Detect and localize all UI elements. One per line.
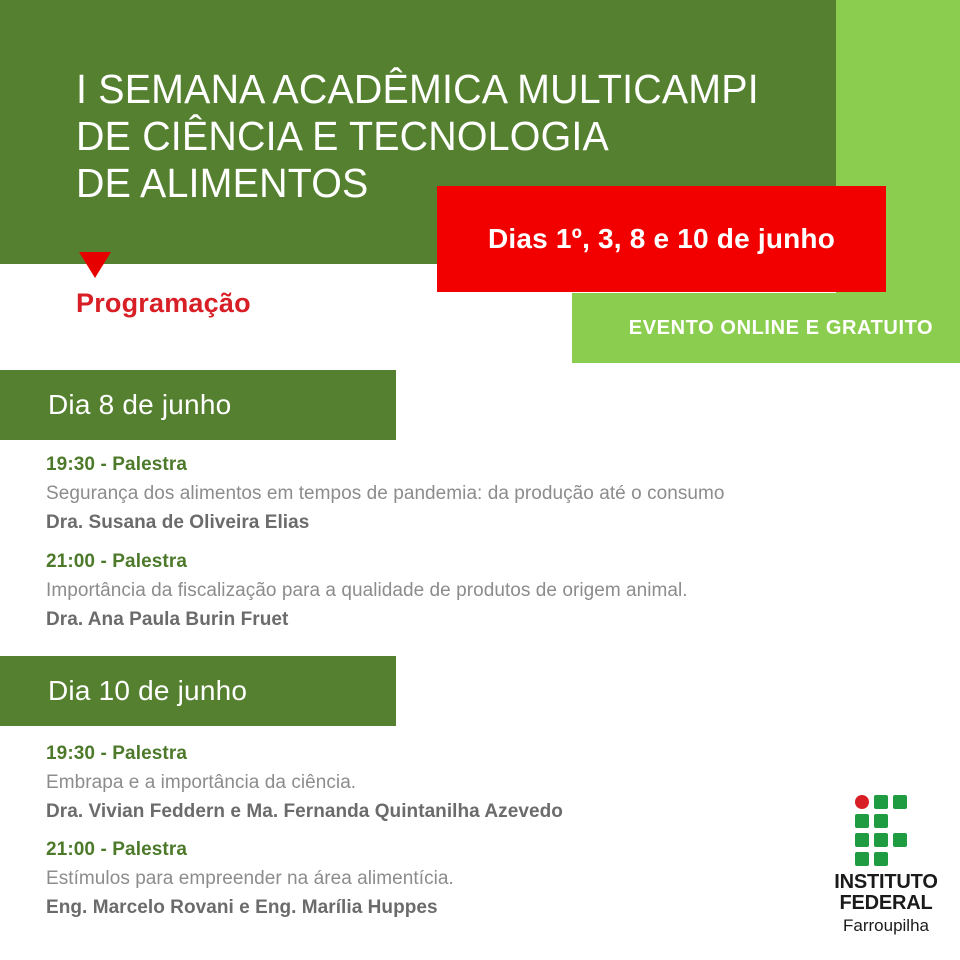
entry-speaker: Dra. Ana Paula Burin Fruet [46,605,688,634]
free-event-badge: EVENTO ONLINE E GRATUITO [572,293,960,363]
logo-square-icon [855,833,869,847]
day-header-label-2: Dia 10 de junho [0,675,247,707]
entry-topic: Embrapa e a importância da ciência. [46,768,563,797]
date-badge: Dias 1º, 3, 8 e 10 de junho [437,186,886,292]
entry-speaker: Dra. Susana de Oliveira Elias [46,508,725,537]
entry-topic: Importância da fiscalização para a quali… [46,576,688,605]
entry-speaker: Eng. Marcelo Rovani e Eng. Marília Huppe… [46,893,454,922]
entry-time: 21:00 - Palestra [46,548,688,576]
triangle-down-icon [79,252,111,278]
logo-square-icon [893,833,907,847]
entry-time: 19:30 - Palestra [46,451,725,479]
if-grid-icon [855,795,917,865]
logo-square-icon [874,814,888,828]
title-line-1: I SEMANA ACADÊMICA MULTICAMPI [76,66,806,113]
logo-dot-icon [855,795,869,809]
entry-time: 21:00 - Palestra [46,836,454,864]
entry-topic: Estímulos para empreender na área alimen… [46,864,454,893]
date-badge-label: Dias 1º, 3, 8 e 10 de junho [488,223,835,255]
instituto-federal-logo: INSTITUTO FEDERAL Farroupilha [822,795,950,940]
schedule-entry: 19:30 - Palestra Embrapa e a importância… [46,740,563,826]
logo-line-farroupilha: Farroupilha [822,915,950,936]
logo-square-icon [893,795,907,809]
schedule-entry: 21:00 - Palestra Estímulos para empreend… [46,836,454,922]
logo-wordmark: INSTITUTO FEDERAL Farroupilha [822,872,950,936]
logo-square-icon [855,852,869,866]
programacao-heading: Programação [76,288,251,319]
logo-line-instituto: INSTITUTO [822,872,950,893]
day-header-bar-2: Dia 10 de junho [0,656,396,726]
entry-topic: Segurança dos alimentos em tempos de pan… [46,479,725,508]
entry-time: 19:30 - Palestra [46,740,563,768]
logo-line-federal: FEDERAL [822,893,950,914]
logo-square-icon [874,852,888,866]
schedule-entry: 21:00 - Palestra Importância da fiscaliz… [46,548,688,634]
logo-square-icon [855,814,869,828]
title-line-2: DE CIÊNCIA E TECNOLOGIA [76,113,806,160]
schedule-entry: 19:30 - Palestra Segurança dos alimentos… [46,451,725,537]
logo-square-icon [874,795,888,809]
day-header-bar-1: Dia 8 de junho [0,370,396,440]
entry-speaker: Dra. Vivian Feddern e Ma. Fernanda Quint… [46,797,563,826]
free-event-label: EVENTO ONLINE E GRATUITO [599,317,933,340]
day-header-label-1: Dia 8 de junho [0,389,231,421]
logo-square-icon [874,833,888,847]
poster-canvas: I SEMANA ACADÊMICA MULTICAMPI DE CIÊNCIA… [0,0,960,960]
